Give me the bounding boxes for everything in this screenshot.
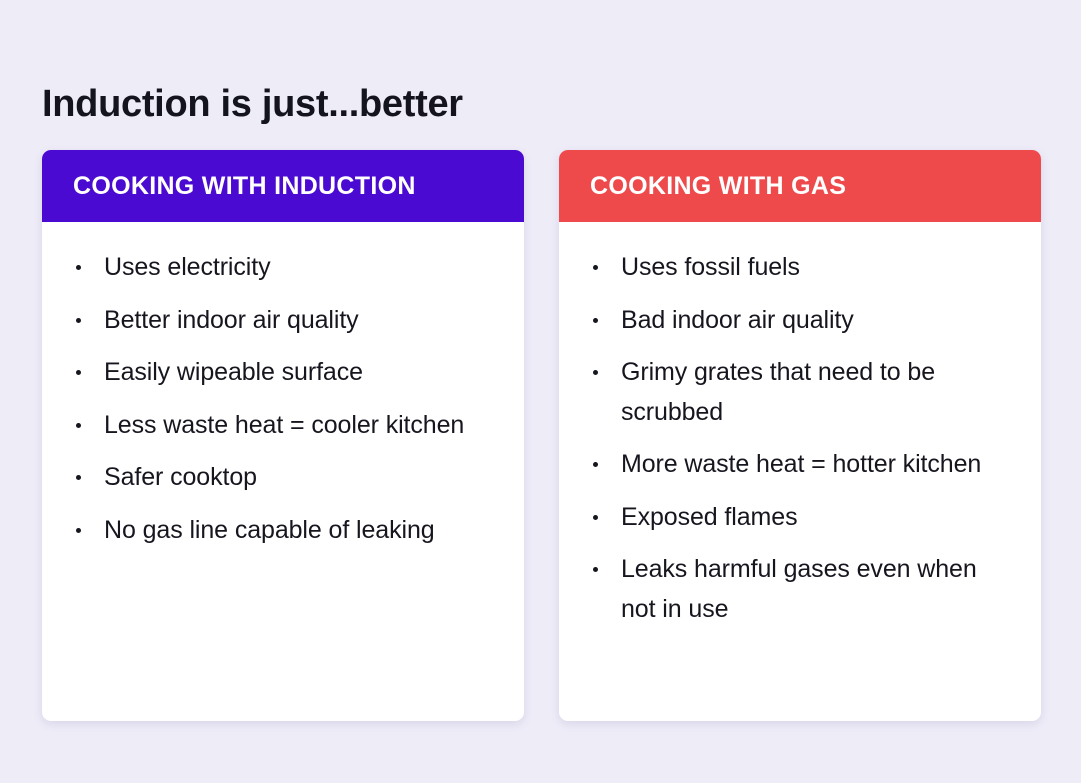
card-gas: COOKING WITH GAS Uses fossil fuels Bad i… bbox=[559, 150, 1041, 721]
card-header-label-gas: COOKING WITH GAS bbox=[590, 172, 846, 201]
card-body-induction: Uses electricity Better indoor air quali… bbox=[42, 222, 524, 721]
bullet-list-gas: Uses fossil fuels Bad indoor air quality… bbox=[587, 248, 1013, 629]
list-item: Exposed flames bbox=[587, 498, 1013, 538]
list-item: Easily wipeable surface bbox=[70, 353, 496, 393]
page-title: Induction is just...better bbox=[42, 84, 463, 126]
list-item: Grimy grates that need to be scrubbed bbox=[587, 353, 1013, 432]
card-header-induction: COOKING WITH INDUCTION bbox=[42, 150, 524, 222]
list-item: Uses electricity bbox=[70, 248, 496, 288]
list-item: No gas line capable of leaking bbox=[70, 511, 496, 551]
list-item: Uses fossil fuels bbox=[587, 248, 1013, 288]
list-item: Safer cooktop bbox=[70, 458, 496, 498]
list-item: Less waste heat = cooler kitchen bbox=[70, 406, 496, 446]
list-item: More waste heat = hotter kitchen bbox=[587, 445, 1013, 485]
comparison-cards: COOKING WITH INDUCTION Uses electricity … bbox=[42, 150, 1041, 721]
card-header-label-induction: COOKING WITH INDUCTION bbox=[73, 172, 416, 201]
list-item: Better indoor air quality bbox=[70, 301, 496, 341]
comparison-infographic: Induction is just...better COOKING WITH … bbox=[0, 0, 1081, 783]
card-header-gas: COOKING WITH GAS bbox=[559, 150, 1041, 222]
card-body-gas: Uses fossil fuels Bad indoor air quality… bbox=[559, 222, 1041, 721]
list-item: Bad indoor air quality bbox=[587, 301, 1013, 341]
bullet-list-induction: Uses electricity Better indoor air quali… bbox=[70, 248, 496, 550]
card-induction: COOKING WITH INDUCTION Uses electricity … bbox=[42, 150, 524, 721]
list-item: Leaks harmful gases even when not in use bbox=[587, 550, 1013, 629]
